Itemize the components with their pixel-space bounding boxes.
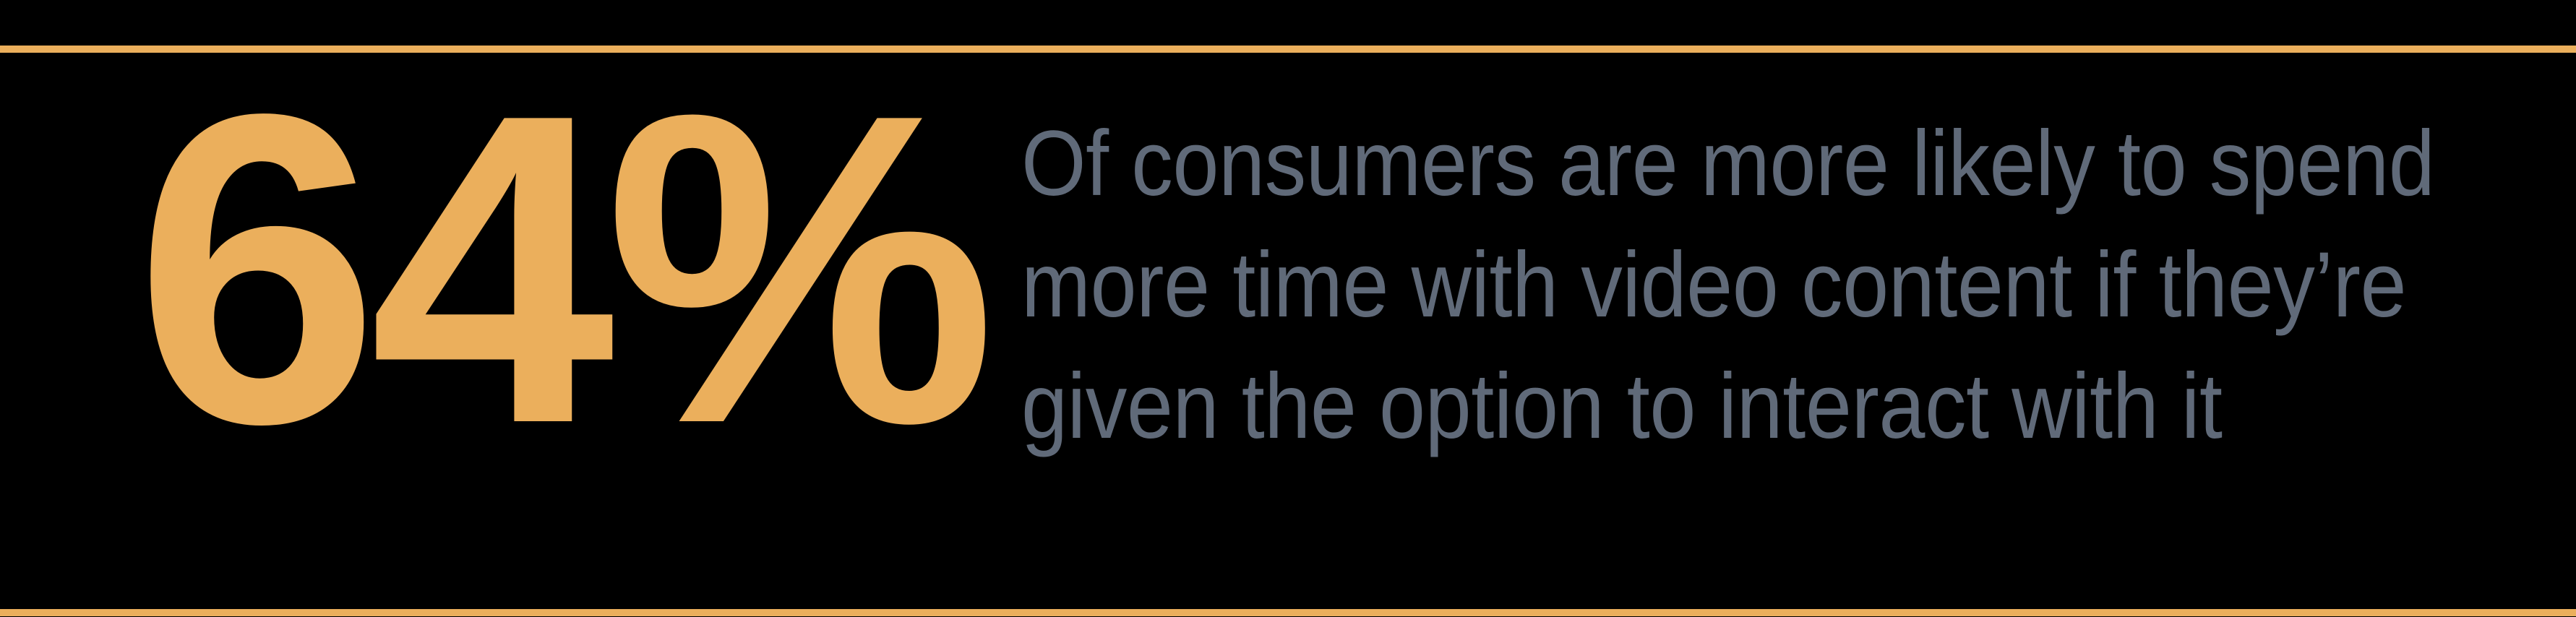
bottom-divider-rule [0,609,2576,616]
statement-line-1: Of consumers are more likely to spend [1021,103,2434,225]
statistic-statement: Of consumers are more likely to spend mo… [1021,103,2576,467]
statistic-card: 64% Of consumers are more likely to spen… [0,0,2576,617]
statistic-figure: 64% [134,98,987,441]
card-content-row: 64% Of consumers are more likely to spen… [0,53,2576,609]
statement-line-2: more time with video content if they’re [1021,225,2434,346]
statistic-value: 64% [134,98,987,441]
statement-line-3: given the option to interact with it [1021,346,2434,467]
